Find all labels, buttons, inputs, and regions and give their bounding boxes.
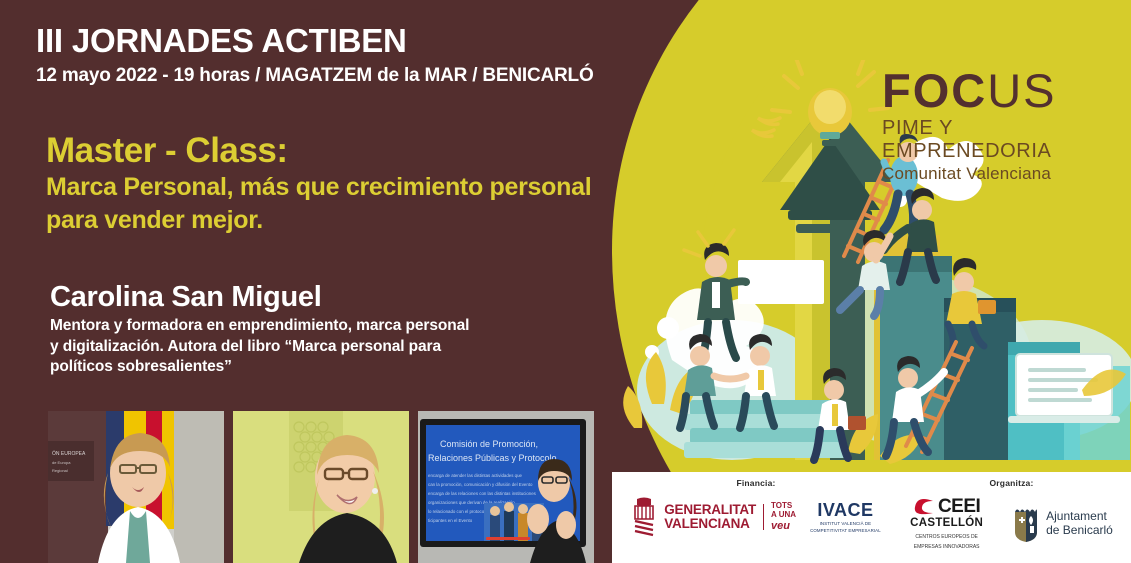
speaker-name: Carolina San Miguel: [50, 282, 670, 312]
speaker-bio-line2: y digitalización. Autora del libro “Marc…: [50, 337, 670, 357]
ajuntament-benicarlo-logo: Ajuntament de Benicarló: [1013, 506, 1113, 542]
masterclass-label: Master - Class:: [46, 133, 706, 169]
financia-section: Financia: GENERALITAT VALENCIANA: [630, 478, 882, 537]
event-title: III JORNADES ACTIBEN: [36, 24, 676, 59]
photo-speaker-presentation: Comisión de Promoción, Relaciones Públic…: [418, 411, 594, 563]
ivace-subtitle-line1: INSTITUT VALENCIÀ DE: [810, 521, 881, 527]
speaker-bio-line3: políticos sobresalientes”: [50, 357, 670, 377]
svg-text:ÓN EUROPEA: ÓN EUROPEA: [52, 450, 86, 457]
focus-wordmark: FOCUS: [882, 68, 1122, 114]
slogan-line3: veu: [771, 520, 796, 532]
svg-text:can la promoción, comunicación: can la promoción, comunicación y difusió…: [428, 482, 533, 487]
photo-speaker-podium-flags: ÓN EUROPEA de Europa Regional: [48, 411, 224, 563]
sponsor-footer: Financia: GENERALITAT VALENCIANA: [612, 472, 1131, 563]
generalitat-line1: GENERALITAT: [664, 503, 756, 517]
organitza-logo-row: CEEI CASTELLÓN CENTROS EUROPEOS DE EMPRE…: [892, 497, 1131, 551]
ceei-castellon-logo: CEEI CASTELLÓN CENTROS EUROPEOS DE EMPRE…: [910, 497, 983, 551]
ivace-subtitle-line2: COMPETITIVITAT EMPRESARIAL: [810, 528, 881, 534]
ajuntament-wordmark: Ajuntament de Benicarló: [1046, 510, 1113, 538]
organitza-section: Organitza: CEEI CASTELLÓN CENTROS EUROPE…: [892, 478, 1131, 551]
benicarlo-coat-of-arms-icon: [1013, 506, 1039, 542]
ceei-swoosh-icon: [913, 497, 935, 517]
generalitat-line2: VALENCIANA: [664, 517, 756, 531]
generalitat-divider: [763, 504, 764, 530]
masterclass-topic-line2: para vender mejor.: [46, 205, 706, 236]
financia-logo-row: GENERALITAT VALENCIANA TOTS A UNA veu IV…: [630, 497, 882, 537]
speaker-block: Carolina San Miguel Mentora y formadora …: [50, 282, 670, 377]
event-poster: III JORNADES ACTIBEN 12 mayo 2022 - 19 h…: [0, 0, 1131, 563]
ceei-subtitle-line2: EMPRESAS INNOVADORAS: [914, 544, 980, 551]
organitza-caption: Organitza:: [892, 478, 1131, 488]
focus-logo: FOCUS PIME Y EMPRENEDORIA Comunitat Vale…: [882, 68, 1122, 184]
ceei-wordmark: CEEI: [938, 498, 980, 516]
speaker-bio-line1: Mentora y formadora en emprendimiento, m…: [50, 316, 670, 336]
focus-wordmark-light: US: [987, 64, 1056, 117]
ivace-wordmark: IVACE: [810, 501, 881, 519]
svg-text:Relaciones Públicas y Protocol: Relaciones Públicas y Protocolo: [428, 453, 557, 463]
svg-text:ticipantes en el Evento: ticipantes en el Evento: [428, 518, 473, 523]
ceei-top-row: CEEI: [913, 497, 980, 517]
svg-text:de Europa: de Europa: [52, 460, 71, 465]
financia-caption: Financia:: [630, 478, 882, 488]
svg-text:Regional: Regional: [52, 468, 68, 473]
generalitat-valenciana-logo: GENERALITAT VALENCIANA TOTS A UNA veu: [631, 497, 796, 537]
event-datetime-venue: 12 mayo 2022 - 19 horas / MAGATZEM de la…: [36, 66, 676, 87]
ceei-subtitle-line1: CENTROS EUROPEOS DE: [915, 534, 978, 541]
generalitat-wordmark: GENERALITAT VALENCIANA: [664, 503, 756, 531]
speaker-photo-gallery: ÓN EUROPEA de Europa Regional: [48, 411, 594, 563]
masterclass-block: Master - Class: Marca Personal, más que …: [46, 133, 706, 236]
focus-wordmark-bold: FOC: [882, 64, 987, 117]
ajuntament-line2: de Benicarló: [1046, 524, 1113, 538]
slogan-line2: A UNA: [771, 511, 796, 520]
photo-speaker-interview: [233, 411, 409, 563]
focus-tagline: PIME Y EMPRENEDORIA: [882, 117, 1122, 163]
svg-text:encarga de las relaciones con: encarga de las relaciones con las distin…: [428, 491, 537, 496]
ivace-logo: IVACE INSTITUT VALENCIÀ DE COMPETITIVITA…: [810, 501, 881, 534]
tots-a-una-veu-slogan: TOTS A UNA veu: [771, 502, 796, 532]
focus-region: Comunitat Valenciana: [882, 164, 1122, 184]
svg-text:Comisión de Promoción,: Comisión de Promoción,: [440, 439, 538, 449]
poster-header: III JORNADES ACTIBEN 12 mayo 2022 - 19 h…: [36, 24, 676, 87]
masterclass-topic-line1: Marca Personal, más que crecimiento pers…: [46, 172, 706, 203]
generalitat-crest-icon: [631, 497, 657, 537]
ceei-city: CASTELLÓN: [910, 518, 983, 530]
ajuntament-line1: Ajuntament: [1046, 510, 1113, 524]
svg-text:encarga de atender las distint: encarga de atender las distintas activid…: [428, 473, 523, 478]
